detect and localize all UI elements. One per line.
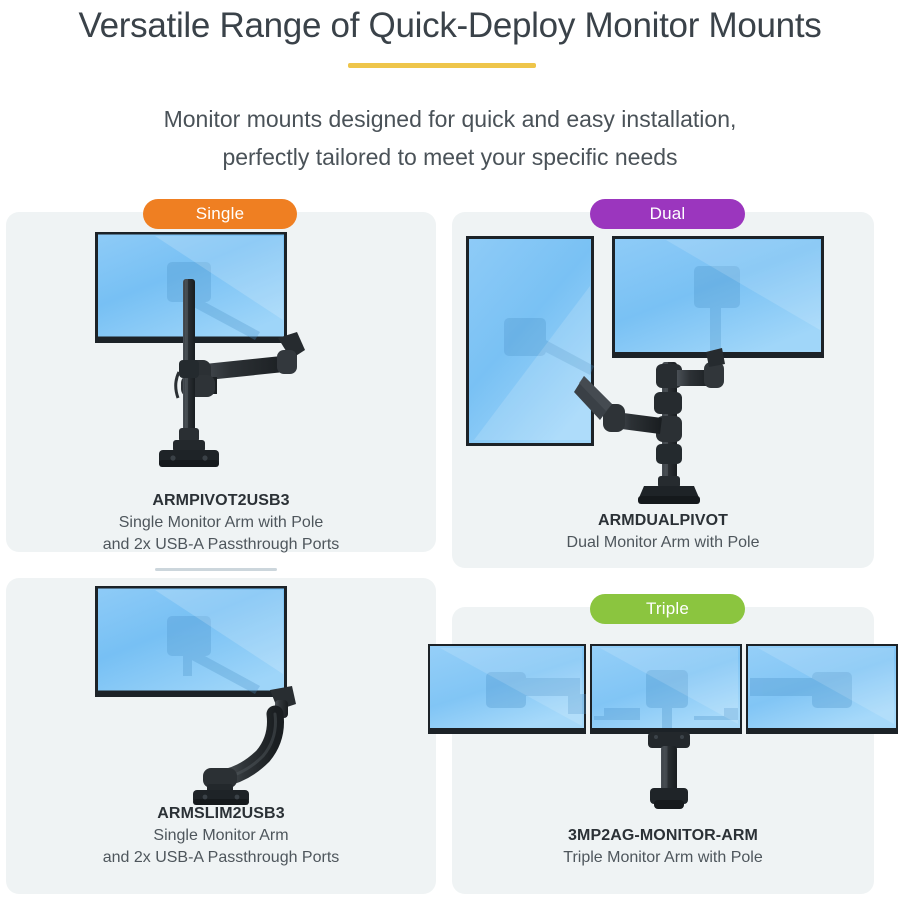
- subtitle-line-1: Monitor mounts designed for quick and ea…: [60, 100, 840, 138]
- badge-single[interactable]: Single: [143, 199, 297, 229]
- product-caption-dual: ARMDUALPIVOT Dual Monitor Arm with Pole: [452, 512, 874, 554]
- product-caption-triple: 3MP2AG-MONITOR-ARM Triple Monitor Arm wi…: [452, 827, 874, 869]
- illustration-triple-arm: [428, 638, 898, 818]
- page-title: Versatile Range of Quick-Deploy Monitor …: [0, 6, 900, 46]
- badge-dual[interactable]: Dual: [590, 199, 745, 229]
- section-divider: [155, 568, 277, 571]
- product-description-line-1: Triple Monitor Arm with Pole: [452, 847, 874, 869]
- product-description-line-1: Single Monitor Arm with Pole: [6, 512, 436, 534]
- illustration-dual-arm: [466, 234, 866, 506]
- illustration-single-slim-arm: [95, 586, 365, 808]
- product-sku: ARMPIVOT2USB3: [6, 492, 436, 510]
- product-description-line-2: and 2x USB-A Passthrough Ports: [6, 847, 436, 869]
- page-subtitle: Monitor mounts designed for quick and ea…: [60, 100, 840, 176]
- badge-triple[interactable]: Triple: [590, 594, 745, 624]
- illustration-single-pole-arm: [95, 232, 365, 490]
- product-description-line-1: Dual Monitor Arm with Pole: [452, 532, 874, 554]
- subtitle-line-2: perfectly tailored to meet your specific…: [60, 138, 840, 176]
- product-caption-single-pivot: ARMPIVOT2USB3 Single Monitor Arm with Po…: [6, 492, 436, 556]
- product-sku: ARMSLIM2USB3: [6, 805, 436, 823]
- product-caption-single-slim: ARMSLIM2USB3 Single Monitor Arm and 2x U…: [6, 805, 436, 869]
- product-description-line-1: Single Monitor Arm: [6, 825, 436, 847]
- product-description-line-2: and 2x USB-A Passthrough Ports: [6, 534, 436, 556]
- title-accent-bar: [348, 63, 536, 68]
- infographic-page: Versatile Range of Quick-Deploy Monitor …: [0, 0, 900, 900]
- product-sku: 3MP2AG-MONITOR-ARM: [452, 827, 874, 845]
- product-sku: ARMDUALPIVOT: [452, 512, 874, 530]
